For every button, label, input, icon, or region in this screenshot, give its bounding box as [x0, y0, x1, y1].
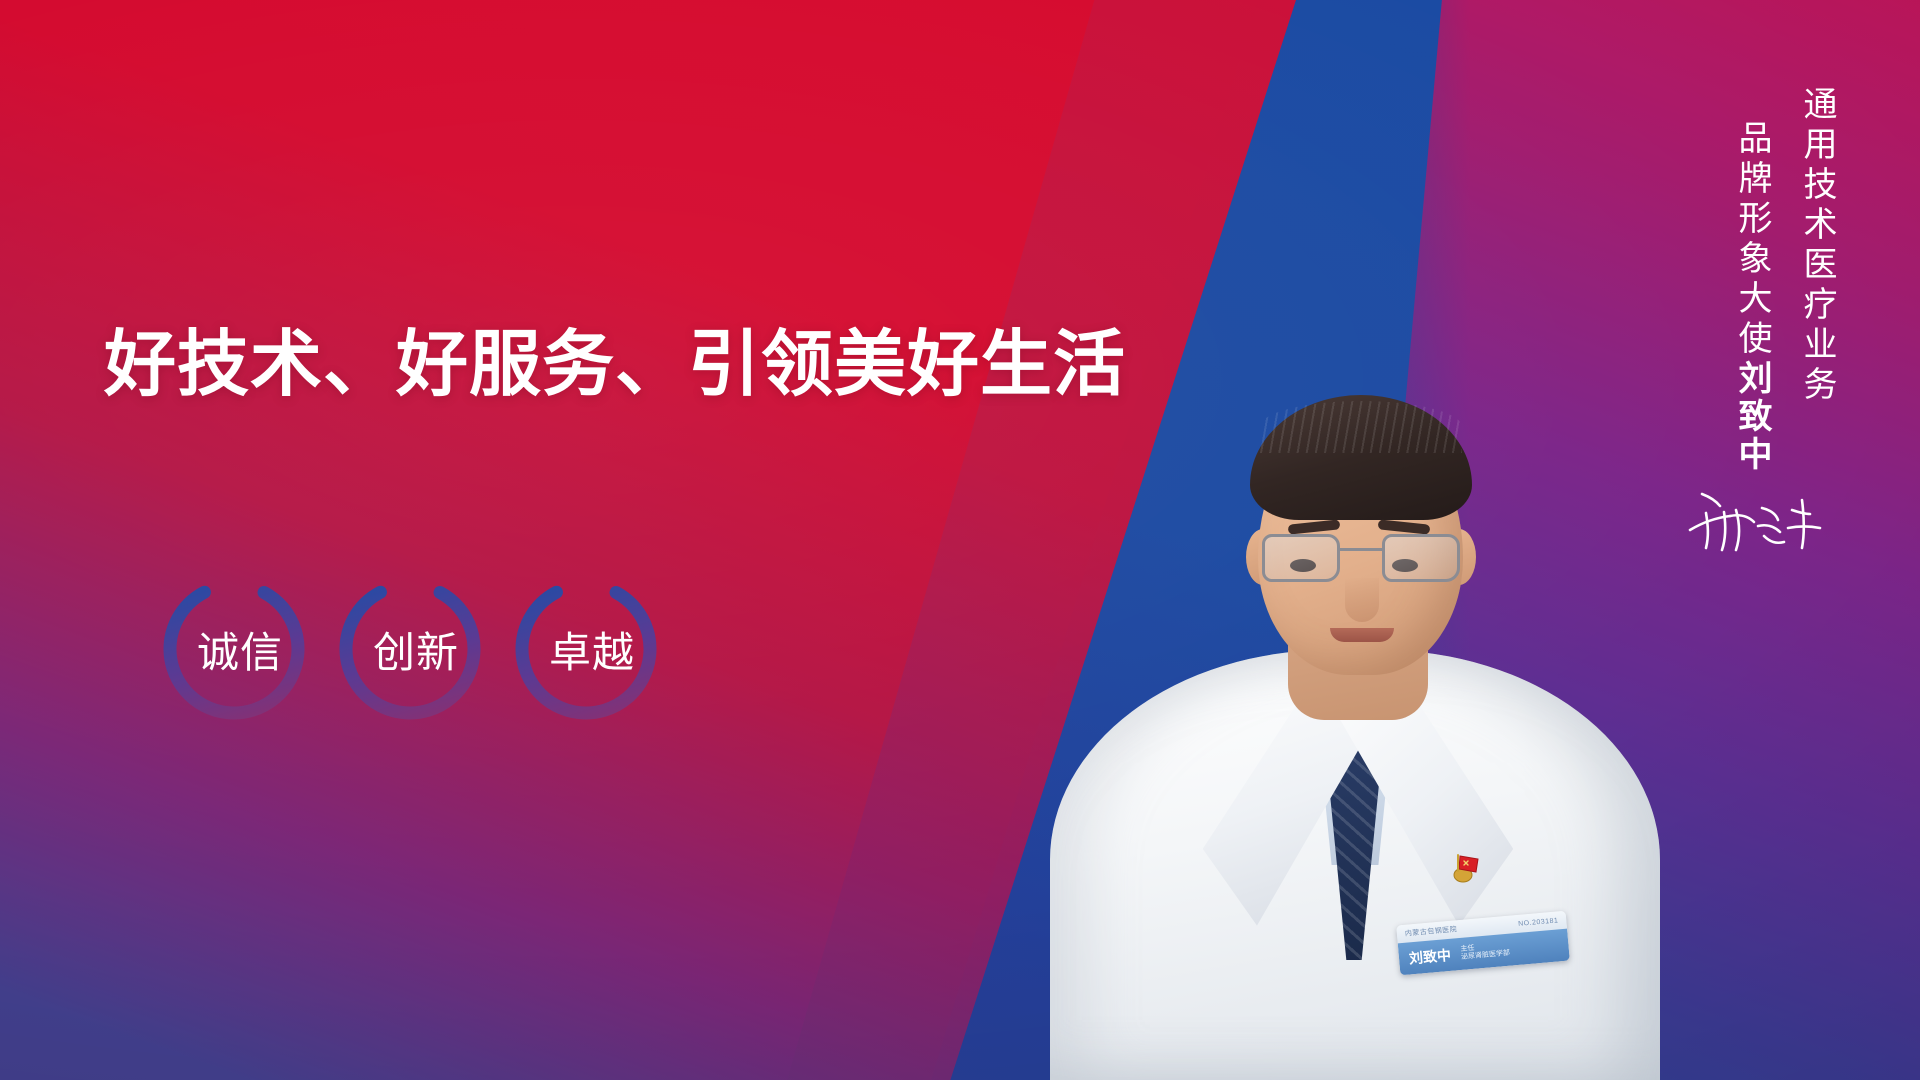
name-badge-serial: NO.203181 — [1518, 917, 1559, 927]
mouth — [1330, 628, 1394, 642]
value-badge-integrity: 诚信 — [160, 575, 308, 723]
lens-right — [1382, 534, 1460, 582]
glasses-bridge — [1340, 548, 1382, 551]
nose — [1345, 578, 1379, 622]
vertical-role-column: 品牌形象大使刘致中 — [1728, 120, 1777, 474]
lens-left — [1262, 534, 1340, 582]
page-title: 好技术、好服务、引领美好生活 — [104, 328, 1126, 404]
brand-banner: 好技术、好服务、引领美好生活 诚信 — [0, 0, 1920, 1080]
value-badge-label: 卓越 — [549, 619, 635, 680]
value-badge-label: 创新 — [373, 619, 459, 680]
portrait-photo: 内蒙古包钢医院 NO.203181 刘致中 主任 泌尿肾脏医学部 — [1000, 180, 1700, 1080]
vertical-person-name: 刘致中 — [1733, 360, 1771, 474]
value-badge-innovation: 创新 — [336, 575, 484, 723]
hair — [1250, 395, 1472, 520]
vertical-text-block: 品牌形象大使刘致中 通用技术医疗业务 — [1728, 86, 1842, 474]
handwritten-signature — [1684, 480, 1834, 566]
cpc-party-emblem-pin-icon — [1452, 850, 1482, 884]
name-badge-organization: 内蒙古包钢医院 — [1404, 924, 1457, 939]
value-badge-group: 诚信 创新 — [160, 575, 660, 723]
value-badge-excellence: 卓越 — [512, 575, 660, 723]
name-badge-role-block: 主任 泌尿肾脏医学部 — [1460, 942, 1510, 962]
value-badge-label: 诚信 — [197, 619, 283, 680]
vertical-role-label: 品牌形象大使 — [1733, 120, 1771, 360]
name-badge-person-name: 刘致中 — [1408, 945, 1452, 969]
vertical-business-line: 通用技术医疗业务 — [1793, 86, 1842, 406]
